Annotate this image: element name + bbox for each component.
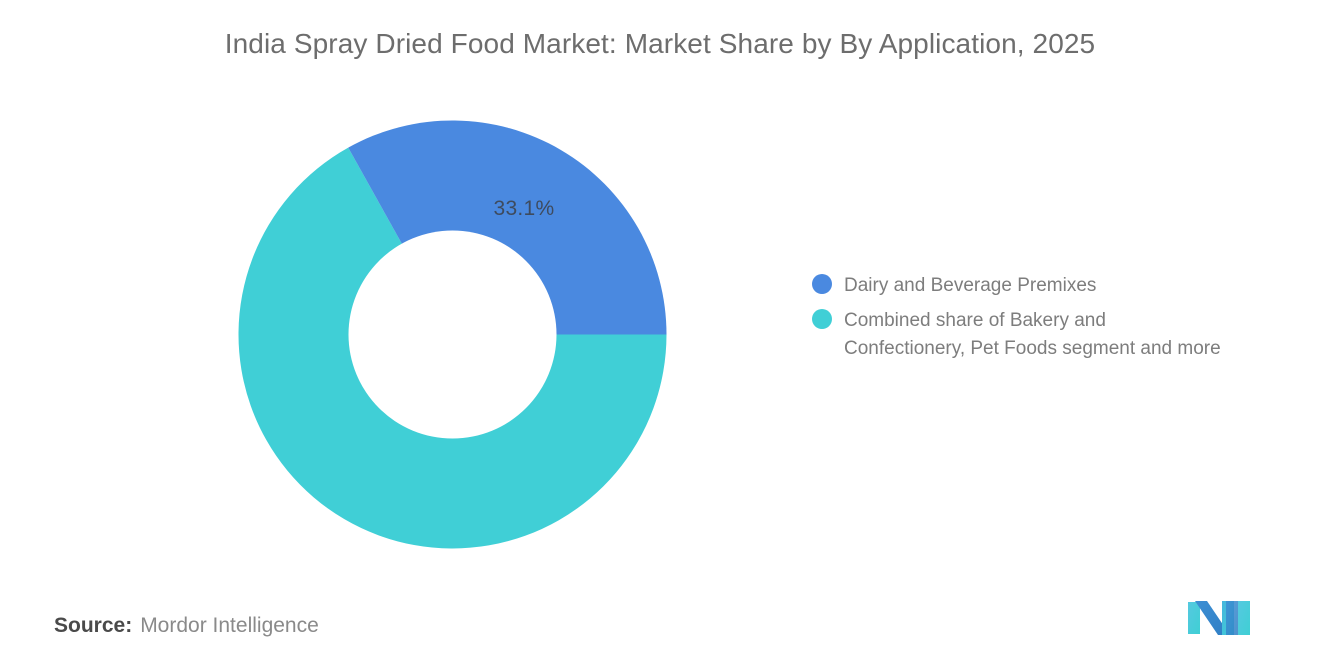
legend-item-label: Combined share of Bakery and Confectione… [844,307,1221,363]
donut-chart-svg [238,120,667,549]
chart-legend: Dairy and Beverage Premixes Combined sha… [812,272,1312,370]
source-label: Source: [54,614,132,637]
donut-slice-label-dairy-beverage-premixes: 33.1% [476,197,572,221]
legend-item-combined-share[interactable]: Combined share of Bakery and Confectione… [812,307,1312,363]
circle-swatch-icon [812,274,832,294]
source-attribution: Source:Mordor Intelligence [54,611,319,641]
legend-item-dairy-and-beverage-premixes[interactable]: Dairy and Beverage Premixes [812,272,1312,300]
circle-swatch-icon [812,309,832,329]
donut-center-hole [349,231,557,439]
legend-item-label: Dairy and Beverage Premixes [844,272,1096,300]
page-title: India Spray Dried Food Market: Market Sh… [0,28,1320,60]
mordor-intelligence-mi-logo-icon [1186,598,1254,638]
donut-chart [238,120,667,549]
source-value: Mordor Intelligence [140,614,319,637]
